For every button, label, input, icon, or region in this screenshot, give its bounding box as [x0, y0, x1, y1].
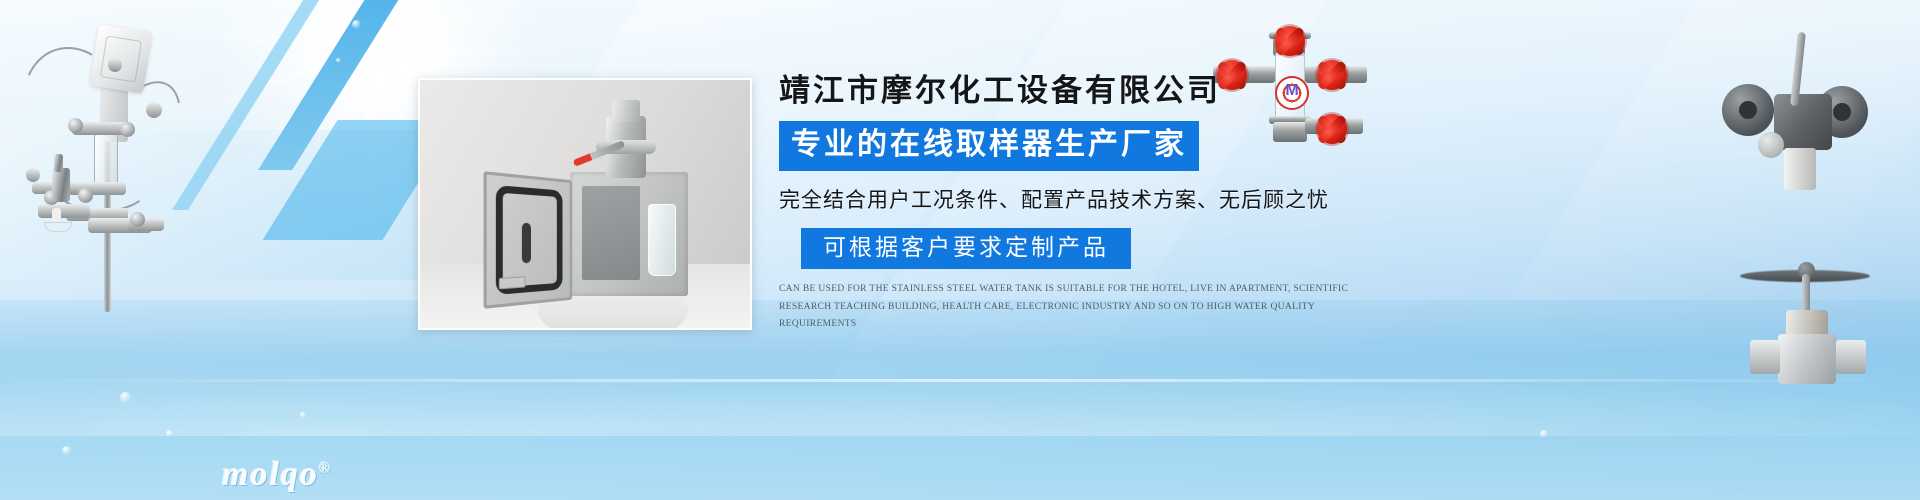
- pipe-flange: [1722, 84, 1774, 136]
- valve-handwheel: [130, 212, 145, 227]
- mount-stem: [1784, 148, 1816, 190]
- pipe-flange: [38, 204, 90, 218]
- valve-handwheel: [68, 118, 83, 133]
- relief-valve-stem: [54, 154, 63, 172]
- brand-badge: [1758, 132, 1784, 158]
- banner-copy: 靖江市摩尔化工设备有限公司 专业的在线取样器生产厂家 完全结合用户工况条件、配置…: [779, 72, 1399, 334]
- valve-bonnet: [612, 100, 640, 122]
- water-droplet: [1540, 430, 1548, 438]
- promo-banner: M 靖江市摩尔化工设备有限公司 专业的在线取样器生产厂家 完全结合用户工况条件、…: [0, 0, 1920, 500]
- left-product-image: [8, 22, 168, 312]
- door-handle: [522, 223, 531, 264]
- valve-end-connection: [1836, 340, 1866, 374]
- fineprint-text: CAN BE USED FOR THE STAINLESS STEEL WATE…: [779, 281, 1379, 334]
- pipe-flange: [108, 58, 122, 72]
- custom-product-highlight: 可根据客户要求定制产品: [801, 228, 1131, 269]
- water-droplet: [120, 392, 131, 403]
- water-droplet: [62, 446, 71, 455]
- sample-cup: [44, 222, 72, 232]
- diagonal-ribbon: [172, 0, 344, 210]
- water-droplet: [166, 430, 173, 437]
- horizon-line: [0, 379, 1920, 382]
- water-droplet: [363, 112, 370, 119]
- registered-mark-icon: ®: [319, 461, 332, 477]
- sub-headline: 完全结合用户工况条件、配置产品技术方案、无后顾之忧: [779, 184, 1399, 214]
- sampler-cabinet: [570, 172, 688, 296]
- water-droplet: [352, 20, 361, 29]
- valve-handwheel: [120, 122, 135, 137]
- diagonal-ribbon: [258, 0, 436, 170]
- company-name: 靖江市摩尔化工设备有限公司: [779, 72, 1399, 109]
- door-latch: [499, 276, 526, 289]
- water-droplet: [336, 58, 341, 63]
- relief-valve: [52, 168, 70, 202]
- right-product-gate-valve: [1740, 228, 1890, 398]
- pipe-flange: [146, 102, 162, 118]
- right-product-lever-valve: [1702, 28, 1902, 188]
- headline-highlight: 专业的在线取样器生产厂家: [779, 121, 1199, 171]
- valve-handwheel: [78, 188, 93, 203]
- pipe-flange: [68, 182, 126, 195]
- water-droplet: [300, 412, 306, 418]
- valve-end-connection: [1750, 340, 1780, 374]
- center-product-photo: [418, 78, 752, 330]
- cabinet-door: [484, 171, 573, 309]
- watermark-text: molqo: [222, 456, 319, 493]
- sampling-valve: [588, 106, 664, 190]
- brand-watermark: molqo®: [222, 456, 332, 494]
- water-droplet: [381, 41, 387, 47]
- pipe-flange: [26, 168, 40, 182]
- sample-bottle: [648, 204, 676, 276]
- wave-highlight: [0, 346, 1920, 436]
- valve-handwheel-red: [1275, 26, 1305, 56]
- valve-body: [1778, 334, 1836, 384]
- cabinet-interior: [582, 186, 640, 280]
